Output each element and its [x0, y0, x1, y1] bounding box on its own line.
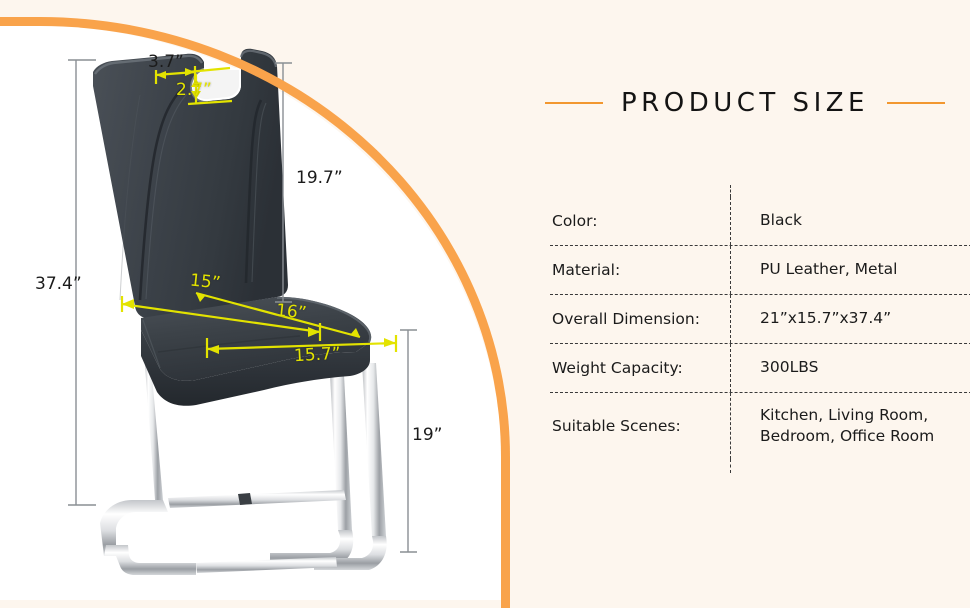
- dimension-label-backrest-height: 19.7”: [296, 168, 343, 188]
- dimension-label-seat-diagonal: 16”: [275, 300, 307, 323]
- spec-label-suitable-scenes: Suitable Scenes:: [550, 417, 730, 435]
- column-divider: [730, 344, 731, 392]
- dimension-label-seat-depth: 15.7”: [294, 344, 342, 366]
- dimension-label-seat-height: 19”: [412, 425, 442, 445]
- page-title: PRODUCT SIZE: [520, 88, 970, 118]
- spec-value-color: Black: [730, 210, 970, 231]
- spec-value-suitable-scenes: Kitchen, Living Room, Bedroom, Office Ro…: [730, 405, 970, 448]
- spec-table: Color: Black Material: PU Leather, Metal…: [550, 197, 970, 459]
- column-divider-cap: [730, 185, 731, 197]
- spec-panel: PRODUCT SIZE Color: Black Material: PU L…: [520, 0, 970, 600]
- title-rule-left: [545, 102, 603, 104]
- spec-label-weight-capacity: Weight Capacity:: [550, 359, 730, 377]
- dimension-label-seat-width: 15”: [189, 270, 221, 293]
- column-divider: [730, 393, 731, 459]
- table-row: Overall Dimension: 21”x15.7”x37.4”: [550, 295, 970, 344]
- table-row: Suitable Scenes: Kitchen, Living Room, B…: [550, 393, 970, 459]
- title-text: PRODUCT SIZE: [621, 88, 869, 118]
- column-divider-cap: [730, 459, 731, 473]
- spec-value-material: PU Leather, Metal: [730, 259, 970, 280]
- spec-label-overall-dimension: Overall Dimension:: [550, 310, 730, 328]
- table-row: Material: PU Leather, Metal: [550, 246, 970, 295]
- spec-label-color: Color:: [550, 212, 730, 230]
- spec-value-weight-capacity: 300LBS: [730, 357, 970, 378]
- table-row: Color: Black: [550, 197, 970, 246]
- dimension-label-backrest-notch-width: 3.7”: [148, 52, 184, 72]
- title-rule-right: [887, 102, 945, 104]
- table-row: Weight Capacity: 300LBS: [550, 344, 970, 393]
- spec-value-overall-dimension: 21”x15.7”x37.4”: [730, 308, 970, 329]
- column-divider: [730, 246, 731, 294]
- column-divider: [730, 295, 731, 343]
- spec-label-material: Material:: [550, 261, 730, 279]
- chair-illustration: 3.7” 2.7” 19.7” 37.4” 15” 16” 15.7” 19”: [0, 0, 502, 600]
- dimension-label-overall-height: 37.4”: [35, 274, 82, 294]
- product-size-infographic: 3.7” 2.7” 19.7” 37.4” 15” 16” 15.7” 19” …: [0, 0, 970, 600]
- column-divider: [730, 197, 731, 245]
- dimension-label-backrest-notch-depth: 2.7”: [176, 80, 212, 100]
